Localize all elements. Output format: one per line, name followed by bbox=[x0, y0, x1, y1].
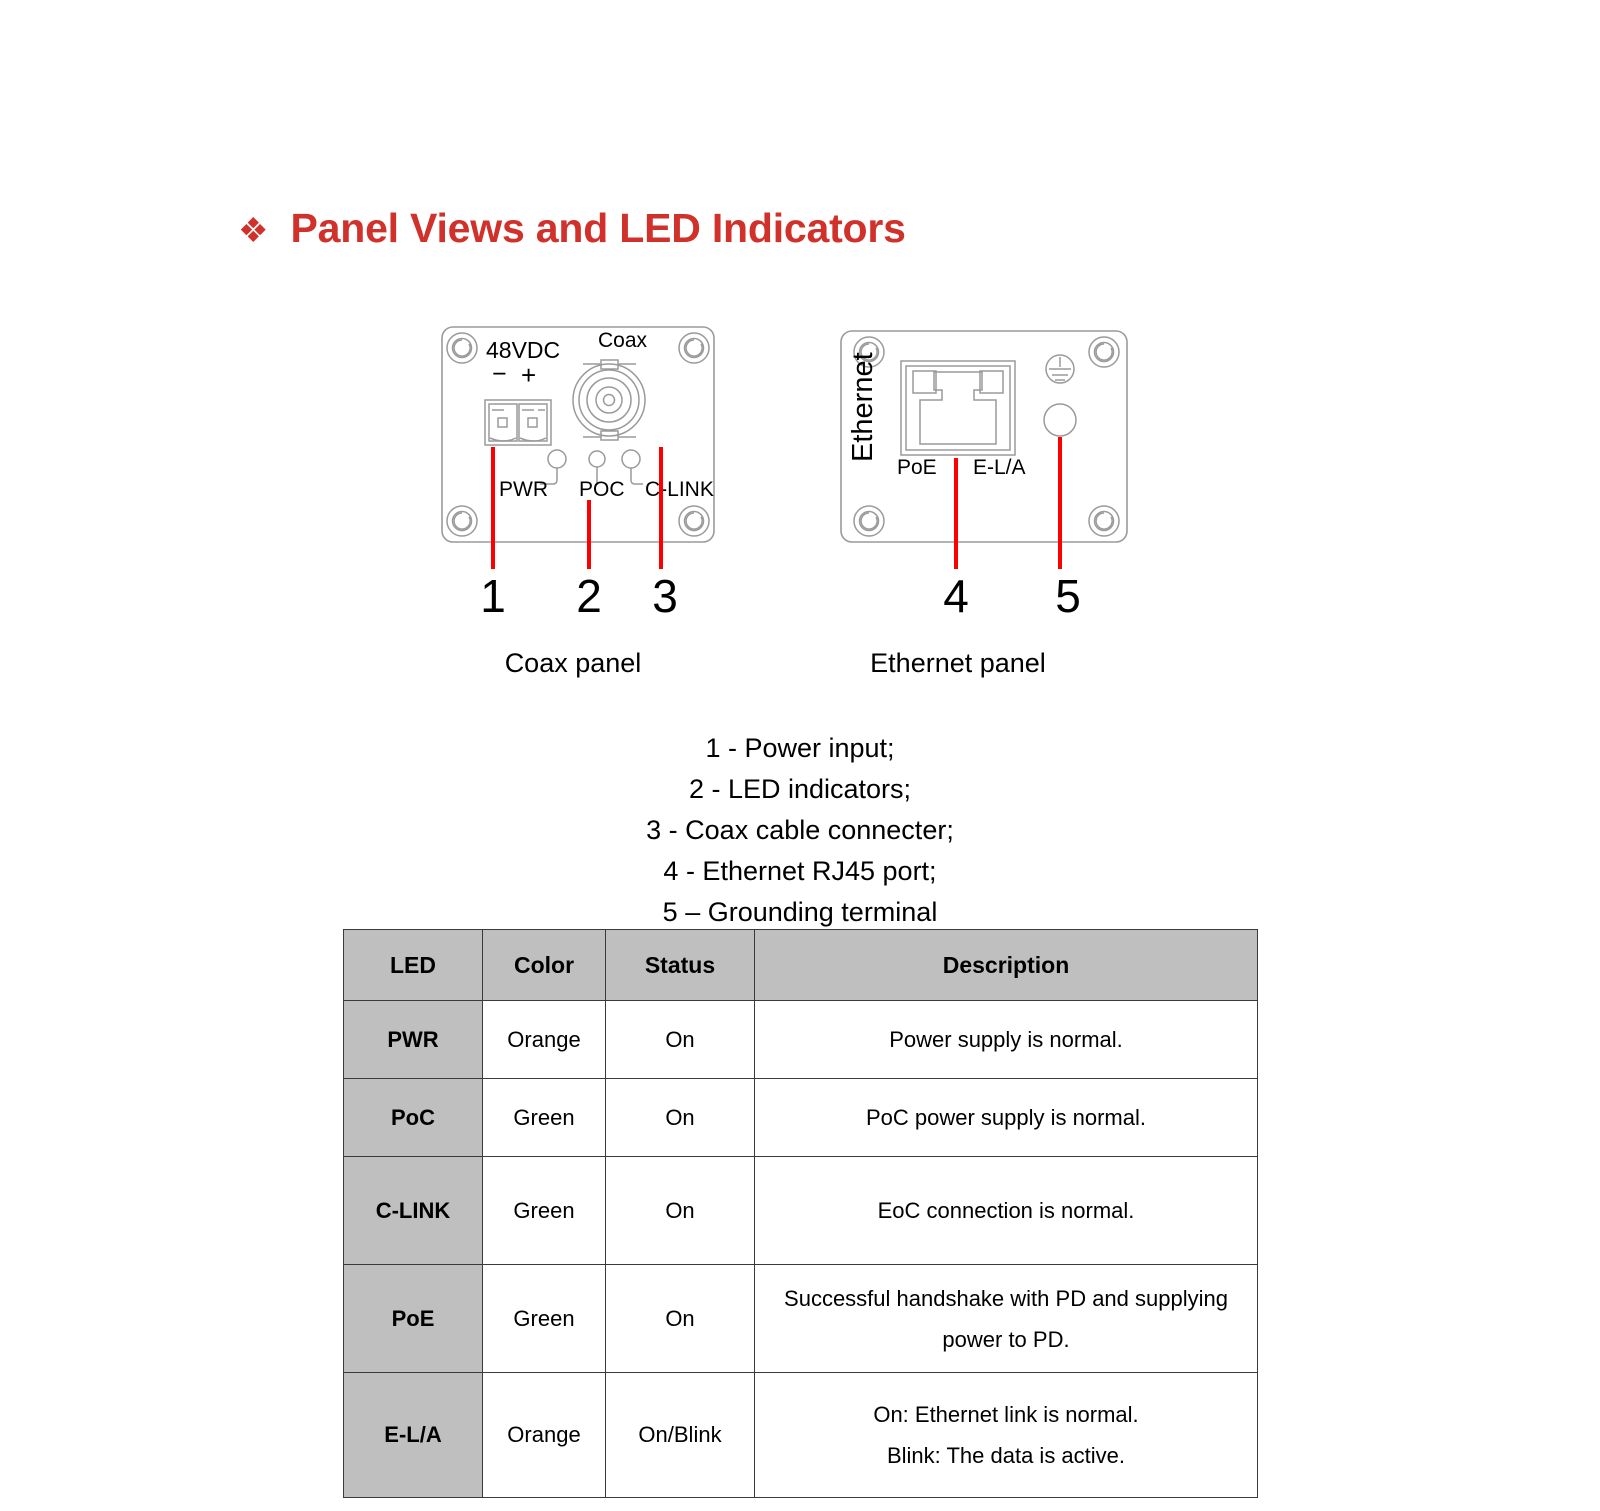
column-header-status: Status bbox=[606, 930, 755, 1001]
bnc-coax-connector bbox=[573, 360, 645, 440]
table-row: PoC Green On PoC power supply is normal. bbox=[344, 1079, 1258, 1157]
cell-description: Successful handshake with PD and supplyi… bbox=[755, 1265, 1258, 1373]
cell-description: Power supply is normal. bbox=[755, 1001, 1258, 1079]
coax-panel-body bbox=[442, 327, 714, 542]
coax-led-label-clink: C-LINK bbox=[645, 478, 714, 501]
led-hole-pwr bbox=[548, 450, 566, 468]
cell-color: Orange bbox=[483, 1001, 606, 1079]
cell-status: On bbox=[606, 1157, 755, 1265]
coax-panel-caption: Coax panel bbox=[505, 648, 642, 678]
legend-item: 4 - Ethernet RJ45 port; bbox=[0, 851, 1600, 892]
column-header-color: Color bbox=[483, 930, 606, 1001]
cell-description: PoC power supply is normal. bbox=[755, 1079, 1258, 1157]
diamond-bullet-icon: ❖ bbox=[238, 214, 268, 248]
description-line: Blink: The data is active. bbox=[761, 1435, 1251, 1476]
coax-led-holes bbox=[540, 450, 643, 485]
ethernet-panel-body bbox=[841, 331, 1127, 542]
callout-number-3: 3 bbox=[652, 570, 678, 622]
legend-item: 1 - Power input; bbox=[0, 728, 1600, 769]
column-header-led: LED bbox=[344, 930, 483, 1001]
callout-number-1: 1 bbox=[480, 570, 506, 622]
coax-connector-label: Coax bbox=[598, 329, 648, 352]
screw-icon bbox=[679, 506, 709, 536]
table-row: PWR Orange On Power supply is normal. bbox=[344, 1001, 1258, 1079]
panel-views-diagram: 48VDC − + Coax bbox=[0, 0, 1600, 700]
legend-item: 3 - Coax cable connecter; bbox=[0, 810, 1600, 851]
cell-color: Orange bbox=[483, 1373, 606, 1498]
rj45-port bbox=[901, 361, 1015, 455]
cell-led: C-LINK bbox=[344, 1157, 483, 1265]
cell-description: EoC connection is normal. bbox=[755, 1157, 1258, 1265]
led-hole-poc bbox=[589, 451, 605, 467]
description-line: Successful handshake with PD and supplyi… bbox=[761, 1278, 1251, 1319]
screw-icon bbox=[854, 337, 884, 367]
callout-number-5: 5 bbox=[1055, 570, 1081, 622]
table-header-row: LED Color Status Description bbox=[344, 930, 1258, 1001]
description-line: Power supply is normal. bbox=[761, 1019, 1251, 1060]
description-line: EoC connection is normal. bbox=[761, 1190, 1251, 1231]
column-header-description: Description bbox=[755, 930, 1258, 1001]
description-line: PoC power supply is normal. bbox=[761, 1097, 1251, 1138]
page-heading: ❖ Panel Views and LED Indicators bbox=[238, 205, 906, 252]
callout-legend: 1 - Power input; 2 - LED indicators; 3 -… bbox=[0, 728, 1600, 933]
cell-status: On bbox=[606, 1001, 755, 1079]
table-row: PoE Green On Successful handshake with P… bbox=[344, 1265, 1258, 1373]
coax-led-label-poc: POC bbox=[579, 478, 625, 501]
page-title: Panel Views and LED Indicators bbox=[290, 205, 905, 252]
cell-color: Green bbox=[483, 1157, 606, 1265]
legend-item: 2 - LED indicators; bbox=[0, 769, 1600, 810]
ethernet-panel-caption: Ethernet panel bbox=[870, 648, 1046, 678]
ethernet-panel-drawing: Ethernet PoE E-L/A 4 5 Ethernet p bbox=[841, 331, 1127, 678]
cell-led: PoC bbox=[344, 1079, 483, 1157]
cell-color: Green bbox=[483, 1265, 606, 1373]
legend-item: 5 – Grounding terminal bbox=[0, 892, 1600, 933]
grounding-terminal-hole bbox=[1044, 404, 1076, 436]
screw-icon bbox=[447, 333, 477, 363]
coax-led-label-pwr: PWR bbox=[499, 478, 548, 501]
screw-icon bbox=[447, 506, 477, 536]
cell-led: E-L/A bbox=[344, 1373, 483, 1498]
cell-status: On bbox=[606, 1265, 755, 1373]
coax-voltage-label: 48VDC bbox=[486, 337, 560, 363]
coax-callout-lines bbox=[493, 447, 661, 569]
polarity-plus-label: + bbox=[521, 360, 536, 390]
screw-icon bbox=[1089, 337, 1119, 367]
grounding-symbol-icon bbox=[1046, 355, 1074, 383]
led-indicator-table: LED Color Status Description PWR Orange … bbox=[343, 929, 1258, 1498]
description-line: On: Ethernet link is normal. bbox=[761, 1394, 1251, 1435]
ethernet-led-label-poe: PoE bbox=[897, 456, 937, 479]
cell-status: On/Blink bbox=[606, 1373, 755, 1498]
screw-icon bbox=[1089, 506, 1119, 536]
callout-number-4: 4 bbox=[943, 570, 969, 622]
cell-description: On: Ethernet link is normal. Blink: The … bbox=[755, 1373, 1258, 1498]
led-hole-clink bbox=[622, 450, 640, 468]
coax-panel-corner-screws bbox=[447, 333, 709, 536]
table-row: C-LINK Green On EoC connection is normal… bbox=[344, 1157, 1258, 1265]
cell-status: On bbox=[606, 1079, 755, 1157]
callout-number-2: 2 bbox=[576, 570, 602, 622]
cell-color: Green bbox=[483, 1079, 606, 1157]
ethernet-led-label-ela: E-L/A bbox=[973, 456, 1026, 479]
ethernet-panel-corner-screws bbox=[854, 337, 1119, 536]
coax-panel-drawing: 48VDC − + Coax bbox=[442, 327, 714, 678]
ethernet-callout-lines bbox=[956, 437, 1060, 569]
table-row: E-L/A Orange On/Blink On: Ethernet link … bbox=[344, 1373, 1258, 1498]
cell-led: PWR bbox=[344, 1001, 483, 1079]
screw-icon bbox=[854, 506, 884, 536]
description-line: power to PD. bbox=[761, 1319, 1251, 1360]
cell-led: PoE bbox=[344, 1265, 483, 1373]
ethernet-side-label: Ethernet bbox=[847, 352, 879, 462]
power-terminal-block bbox=[485, 400, 551, 445]
screw-icon bbox=[679, 333, 709, 363]
polarity-minus-label: − bbox=[492, 360, 507, 388]
